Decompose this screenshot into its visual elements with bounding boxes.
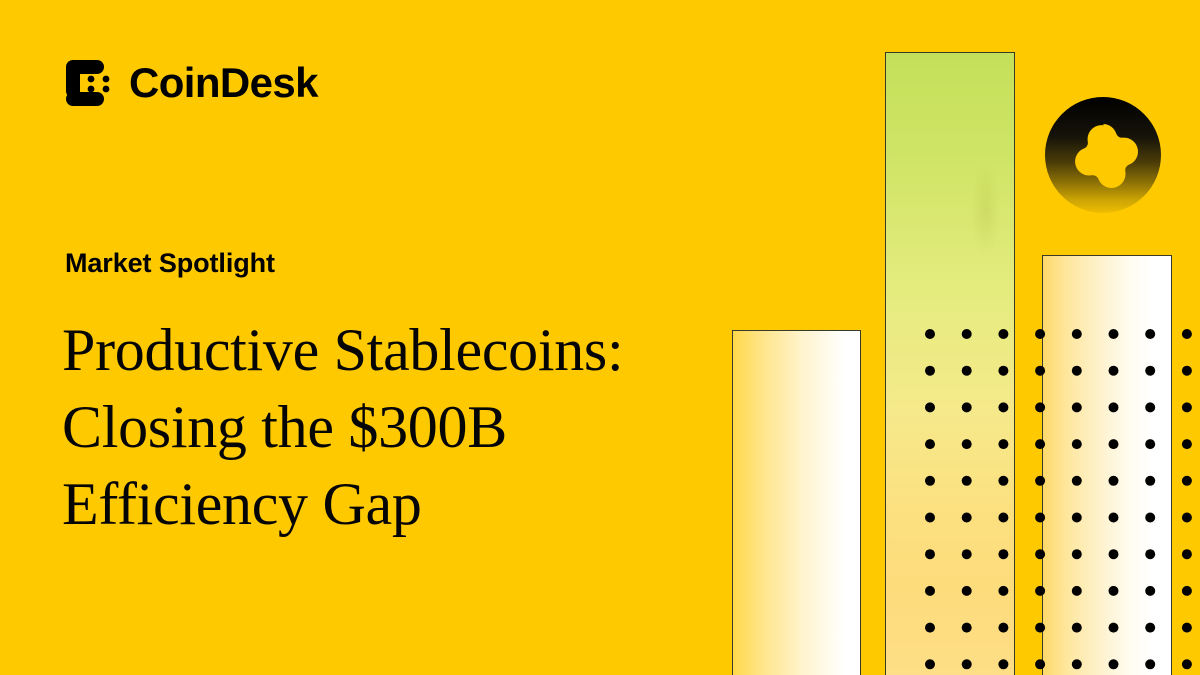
coindesk-clover-badge-icon	[1045, 97, 1161, 213]
social-card: CoinDesk Market Spotlight Productive Sta…	[0, 0, 1200, 675]
grid-dot	[1109, 476, 1119, 486]
grid-dot	[1109, 586, 1119, 596]
grid-dot	[1145, 659, 1155, 669]
grid-dot	[998, 439, 1008, 449]
grid-dot	[1145, 549, 1155, 559]
grid-dot	[1109, 439, 1119, 449]
grid-dot	[1109, 513, 1119, 523]
grid-dot	[962, 439, 972, 449]
grid-dot	[1182, 402, 1192, 412]
grid-dot	[1182, 549, 1192, 559]
grid-dot	[1072, 586, 1082, 596]
grid-dot	[1072, 623, 1082, 633]
grid-dot	[1182, 659, 1192, 669]
grid-dot	[998, 549, 1008, 559]
grid-dot	[962, 623, 972, 633]
chart-bar-left	[732, 330, 861, 675]
grid-dot	[1072, 549, 1082, 559]
grid-dot	[998, 513, 1008, 523]
grid-dot	[962, 659, 972, 669]
grid-dot	[925, 513, 935, 523]
grid-dot	[1182, 513, 1192, 523]
grid-dot	[1035, 476, 1045, 486]
grid-dot	[1072, 439, 1082, 449]
grid-dot	[925, 659, 935, 669]
grid-dot	[1035, 402, 1045, 412]
grid-dot	[998, 623, 1008, 633]
grid-dot	[1182, 476, 1192, 486]
grid-dot	[998, 586, 1008, 596]
grid-dot	[1182, 366, 1192, 376]
grid-dot	[1035, 513, 1045, 523]
grid-dot	[998, 476, 1008, 486]
grid-dot	[925, 439, 935, 449]
coindesk-logo[interactable]: CoinDesk	[65, 58, 318, 108]
grid-dot	[1072, 476, 1082, 486]
grid-dot	[1035, 549, 1045, 559]
grid-dot	[1035, 366, 1045, 376]
grid-dot	[1109, 402, 1119, 412]
grid-dot	[1072, 513, 1082, 523]
grid-dot	[1072, 659, 1082, 669]
grid-dot	[1182, 329, 1192, 339]
grid-dot	[1072, 402, 1082, 412]
coindesk-wordmark: CoinDesk	[129, 62, 318, 104]
grid-dot	[925, 476, 935, 486]
chart-bar-middle	[885, 52, 1015, 675]
grid-dot	[1145, 623, 1155, 633]
chart-bar-right	[1042, 255, 1172, 675]
grid-dot	[1109, 549, 1119, 559]
grid-dot	[1145, 586, 1155, 596]
grid-dot	[1072, 329, 1082, 339]
grid-dot	[1109, 329, 1119, 339]
grid-dot	[1035, 659, 1045, 669]
grid-dot	[1035, 586, 1045, 596]
grid-dot	[925, 329, 935, 339]
grid-dot	[1109, 659, 1119, 669]
grid-dot	[1145, 329, 1155, 339]
page-title: Productive Stablecoins: Closing the $300…	[62, 312, 682, 542]
grid-dot	[962, 586, 972, 596]
grid-dot	[998, 659, 1008, 669]
grid-dot	[998, 366, 1008, 376]
grid-dot	[962, 476, 972, 486]
grid-dot	[962, 329, 972, 339]
grid-dot	[1145, 513, 1155, 523]
grid-dot	[1109, 623, 1119, 633]
grid-dot	[1182, 623, 1192, 633]
grid-dot	[1145, 402, 1155, 412]
grid-dot	[1072, 366, 1082, 376]
grid-dot	[962, 513, 972, 523]
grid-dot	[1035, 329, 1045, 339]
coindesk-dot-matrix-icon	[65, 60, 115, 106]
grid-dot	[925, 366, 935, 376]
grid-dot	[1145, 476, 1155, 486]
grid-dot	[998, 329, 1008, 339]
grid-dot	[1035, 439, 1045, 449]
grid-dot	[1145, 366, 1155, 376]
grid-dot	[962, 366, 972, 376]
grid-dot	[1145, 439, 1155, 449]
grid-dot	[998, 402, 1008, 412]
grid-dot	[1182, 586, 1192, 596]
eyebrow-label: Market Spotlight	[65, 250, 275, 277]
grid-dot	[1109, 366, 1119, 376]
grid-dot	[925, 549, 935, 559]
grid-dot	[925, 402, 935, 412]
grid-dot	[925, 623, 935, 633]
grid-dot	[925, 586, 935, 596]
grid-dot	[1182, 439, 1192, 449]
grid-dot	[962, 402, 972, 412]
grid-dot	[1035, 623, 1045, 633]
grid-dot	[962, 549, 972, 559]
